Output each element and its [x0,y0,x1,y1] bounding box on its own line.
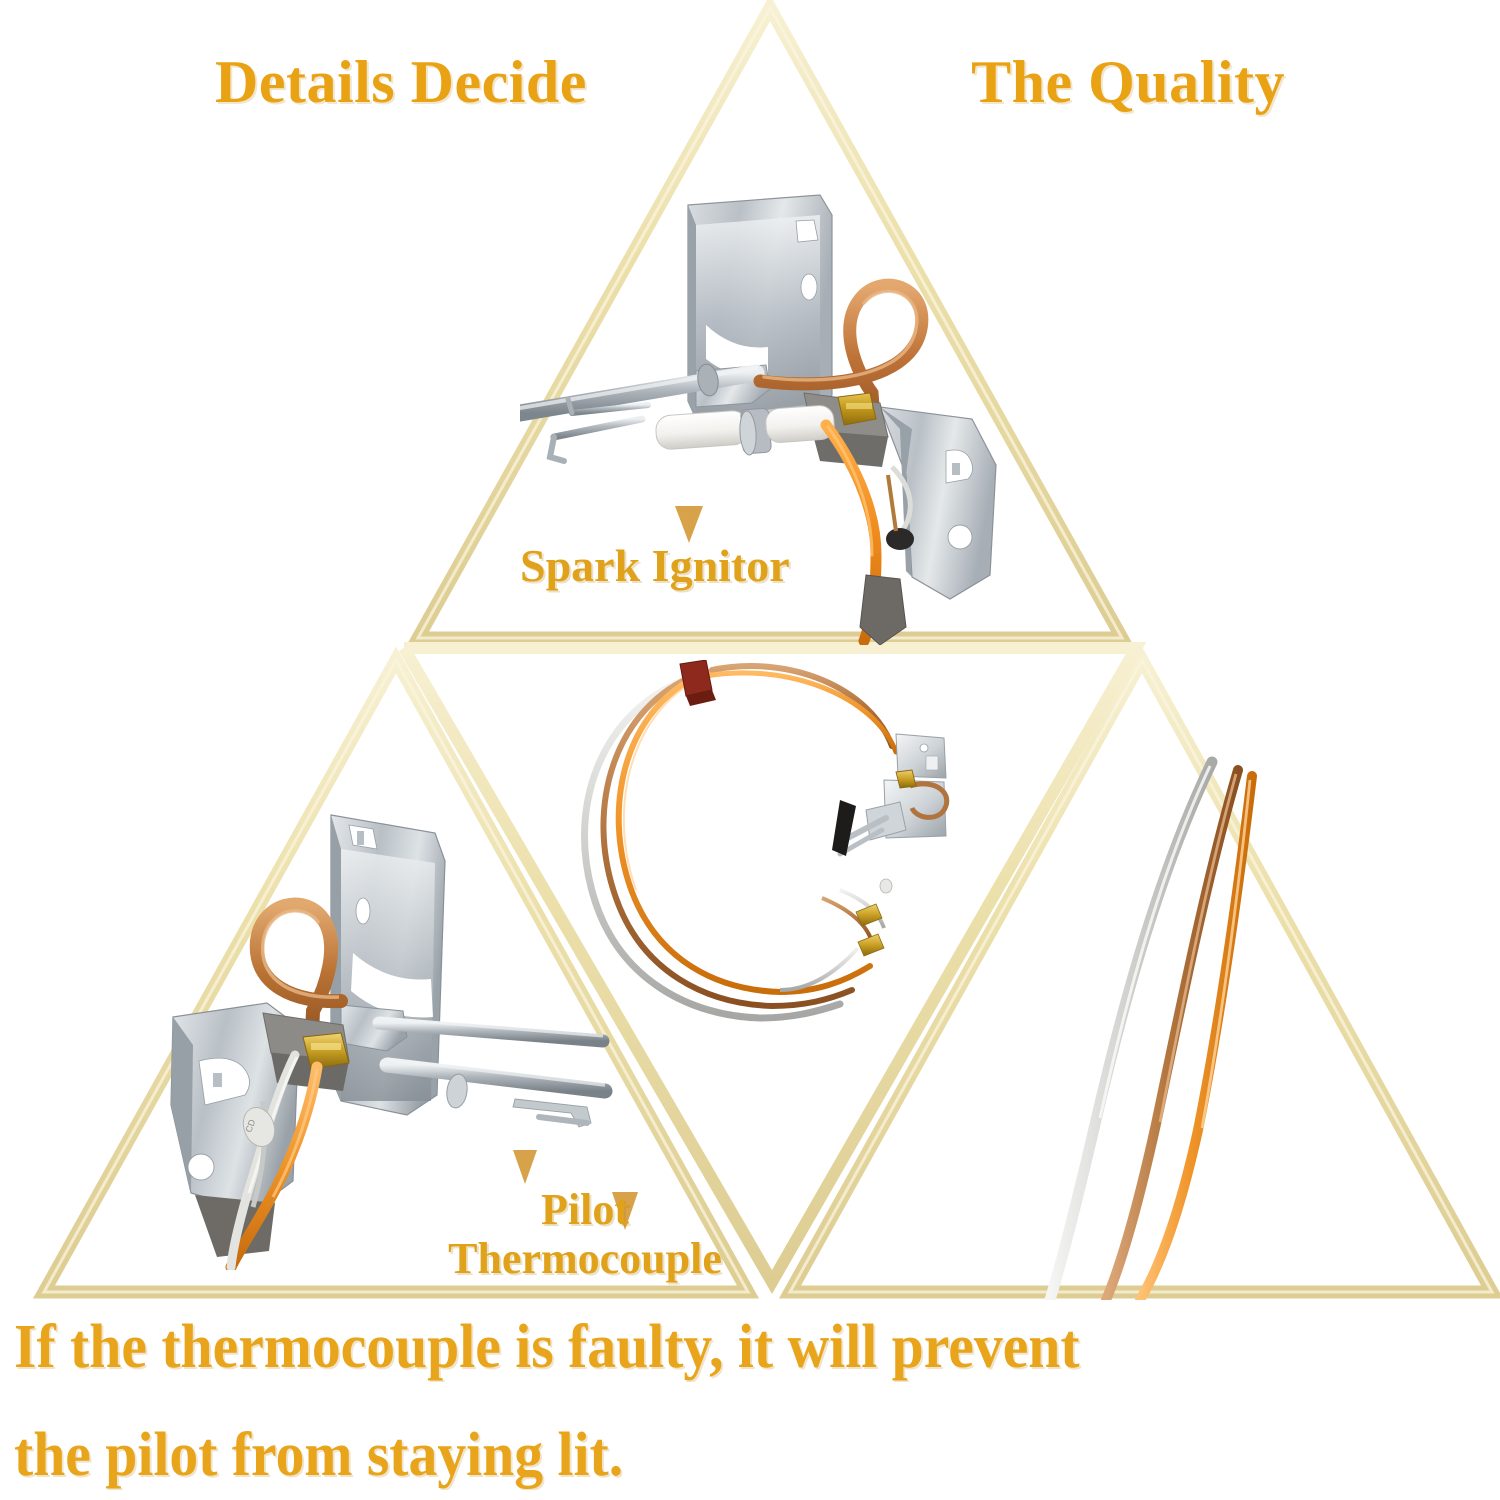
orange-ignition-lead [619,672,870,992]
brass-compression-nut [303,1033,349,1069]
label-spark-ignitor: Spark Ignitor [520,540,790,592]
side-mount-plate [880,407,996,599]
photo-bottom-right-cables [860,700,1460,1300]
label-thermocouple-line: Thermocouple [440,1234,730,1283]
caption-line-2: the pilot from staying lit. [14,1420,623,1491]
headline-row: Details Decide The Quality [0,48,1500,117]
brass-compression-fitting [838,393,876,425]
headline-right: The Quality [971,48,1285,117]
copper-thermocouple-lead [603,674,852,1006]
label-pilot-line: Pilot [440,1185,730,1234]
headline-left: Details Decide [215,48,587,117]
red-connector-block [680,660,716,706]
label-pilot-thermocouple: Pilot Thermocouple [440,1185,730,1284]
orange-cable [1140,776,1252,1300]
white-ceramic-spark-ignitor [655,405,835,456]
infographic-canvas: CD [0,0,1500,1500]
caption-line-1: If the thermocouple is faulty, it will p… [14,1312,1080,1383]
